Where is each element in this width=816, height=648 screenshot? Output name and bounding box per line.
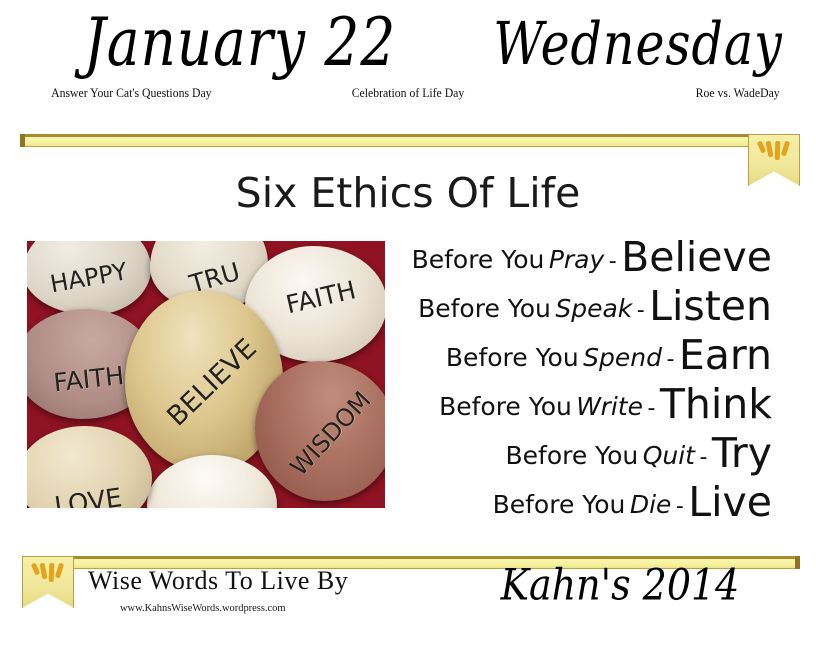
ethics-lead: Before You xyxy=(493,490,626,519)
ethics-answer: Live xyxy=(688,478,772,526)
ethics-answer: Think xyxy=(660,380,772,428)
footer-signature: Kahn's 2014 xyxy=(470,556,770,614)
stone-label: BELIEVE xyxy=(162,332,264,432)
ethics-line: Before You Die - Live xyxy=(377,481,772,530)
ethics-verb: Quit xyxy=(643,441,695,470)
bottom-ribbon-right-cap xyxy=(795,556,800,569)
holiday-list: Answer Your Cat's Questions Day Celebrat… xyxy=(0,85,816,105)
ethics-lead: Before You xyxy=(418,294,551,323)
stone-label: FAITH xyxy=(283,275,358,319)
page-title-date: January 22 xyxy=(34,6,446,82)
stone-label: FAITH xyxy=(52,361,125,397)
ethics-list: Before You Pray - Believe Before You Spe… xyxy=(377,236,772,530)
ethics-line: Before You Spend - Earn xyxy=(377,334,772,383)
holiday-item-center: Celebration of Life Day xyxy=(24,85,791,101)
ethics-lead: Before You xyxy=(439,392,572,421)
ethics-lead: Before You xyxy=(412,245,545,274)
ethics-dash: - xyxy=(676,494,684,519)
stone-label: LOVE xyxy=(52,483,123,508)
ethics-lead: Before You xyxy=(446,343,579,372)
page-title-weekday: Wednesday xyxy=(481,6,795,82)
ethics-answer: Try xyxy=(712,429,772,477)
ribbon-brush-marks-icon xyxy=(749,141,799,167)
ethics-answer: Believe xyxy=(621,233,772,281)
ethics-verb: Die xyxy=(630,490,672,519)
footer-brand: Wise Words To Live By xyxy=(88,565,348,597)
ethics-verb: Write xyxy=(576,392,643,421)
holiday-item-right: Roe vs. WadeDay xyxy=(695,85,779,101)
ethics-line: Before You Write - Think xyxy=(377,383,772,432)
ethics-line: Before You Quit - Try xyxy=(377,432,772,481)
calendar-header: January 22 Wednesday Answer Your Cat's Q… xyxy=(0,0,816,120)
ethics-verb: Spend xyxy=(583,343,662,372)
ethics-answer: Earn xyxy=(679,331,772,379)
ethics-dash: - xyxy=(699,445,707,470)
ethics-dash: - xyxy=(609,249,617,274)
ethics-lead: Before You xyxy=(505,441,638,470)
ribbon-brush-marks-icon xyxy=(23,563,73,589)
ethics-dash: - xyxy=(647,396,655,421)
ethics-answer: Listen xyxy=(649,282,772,330)
ethics-dash: - xyxy=(666,347,674,372)
ethics-verb: Speak xyxy=(555,294,632,323)
ethics-line: Before You Pray - Believe xyxy=(377,236,772,285)
stone-photo: HAPPY TRU FAITH FAITH BELIEVE WISDOM LOV… xyxy=(27,241,385,508)
ethics-line: Before You Speak - Listen xyxy=(377,285,772,334)
top-ribbon-left-cap xyxy=(20,134,25,147)
footer-website-url[interactable]: www.KahnsWiseWords.wordpress.com xyxy=(120,601,286,615)
ethics-dash: - xyxy=(637,298,645,323)
content-title: Six Ethics Of Life xyxy=(0,168,816,218)
bottom-ribbon-flag-icon xyxy=(22,556,74,608)
ethics-verb: Pray xyxy=(549,245,604,274)
stone-label: HAPPY xyxy=(48,257,129,298)
top-ribbon-bar xyxy=(20,134,758,147)
stone-label: WISDOM xyxy=(285,386,376,481)
